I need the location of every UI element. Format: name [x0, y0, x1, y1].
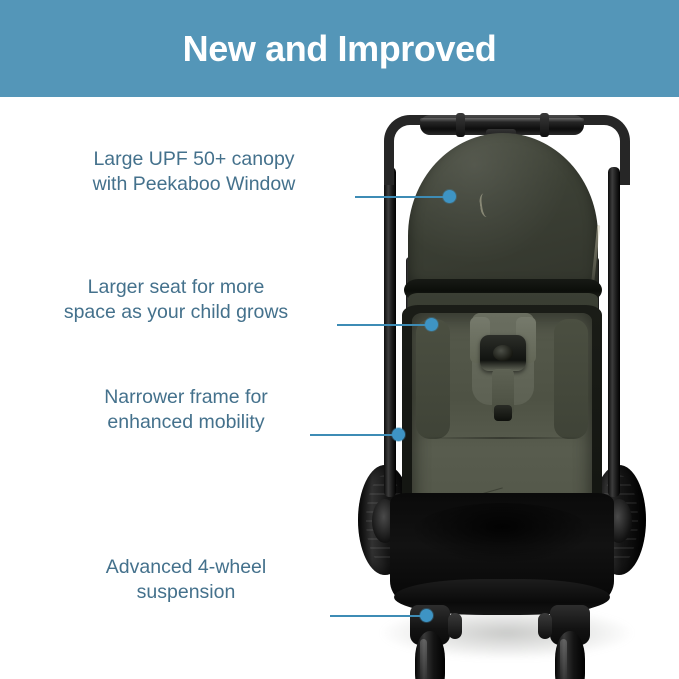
callout-canopy-line2: with Peekaboo Window — [44, 172, 344, 197]
callout-seat-line1: Larger seat for more — [26, 275, 326, 300]
callout-suspension: Advanced 4-wheel suspension — [36, 555, 336, 605]
frame-post-left — [384, 167, 396, 497]
front-wheel-right-icon — [555, 631, 585, 679]
seat-wing-right — [554, 319, 588, 439]
page-title: New and Improved — [183, 31, 497, 67]
front-swivel-arm-left — [448, 613, 462, 639]
handlebar-joint-right — [540, 113, 549, 137]
leader-dot-seat — [425, 318, 438, 331]
header-banner: New and Improved — [0, 0, 679, 97]
front-swivel-arm-right — [538, 613, 552, 639]
callout-seat: Larger seat for more space as your child… — [26, 275, 326, 325]
callout-frame-line1: Narrower frame for — [36, 385, 336, 410]
crotch-buckle — [494, 405, 512, 421]
leader-dot-suspension — [420, 609, 433, 622]
leader-line-suspension — [330, 615, 428, 617]
leader-dot-canopy — [443, 190, 456, 203]
callout-canopy: Large UPF 50+ canopy with Peekaboo Windo… — [44, 147, 344, 197]
seat-crease — [418, 437, 586, 439]
front-wheel-left-icon — [415, 631, 445, 679]
leader-line-seat — [337, 324, 433, 326]
product-stage: Large UPF 50+ canopy with Peekaboo Windo… — [0, 97, 679, 679]
basket-inner-shadow — [412, 503, 592, 563]
wheel-gloss — [560, 639, 567, 679]
handlebar-joint-left — [456, 113, 465, 137]
leader-line-frame — [310, 434, 402, 436]
callout-frame: Narrower frame for enhanced mobility — [36, 385, 336, 435]
callout-suspension-line1: Advanced 4-wheel — [36, 555, 336, 580]
infographic-page: New and Improved — [0, 0, 679, 679]
callout-frame-line2: enhanced mobility — [36, 410, 336, 435]
callout-suspension-line2: suspension — [36, 580, 336, 605]
harness-buckle-icon — [480, 335, 526, 371]
wheel-gloss — [420, 639, 427, 679]
frame-post-right — [608, 167, 620, 497]
stroller-image — [352, 107, 652, 677]
leader-line-canopy — [355, 196, 451, 198]
seat-wing-left — [416, 319, 450, 439]
callout-canopy-line1: Large UPF 50+ canopy — [44, 147, 344, 172]
canopy-seam — [478, 192, 495, 218]
callout-seat-line2: space as your child grows — [26, 300, 326, 325]
leader-dot-frame — [392, 428, 405, 441]
